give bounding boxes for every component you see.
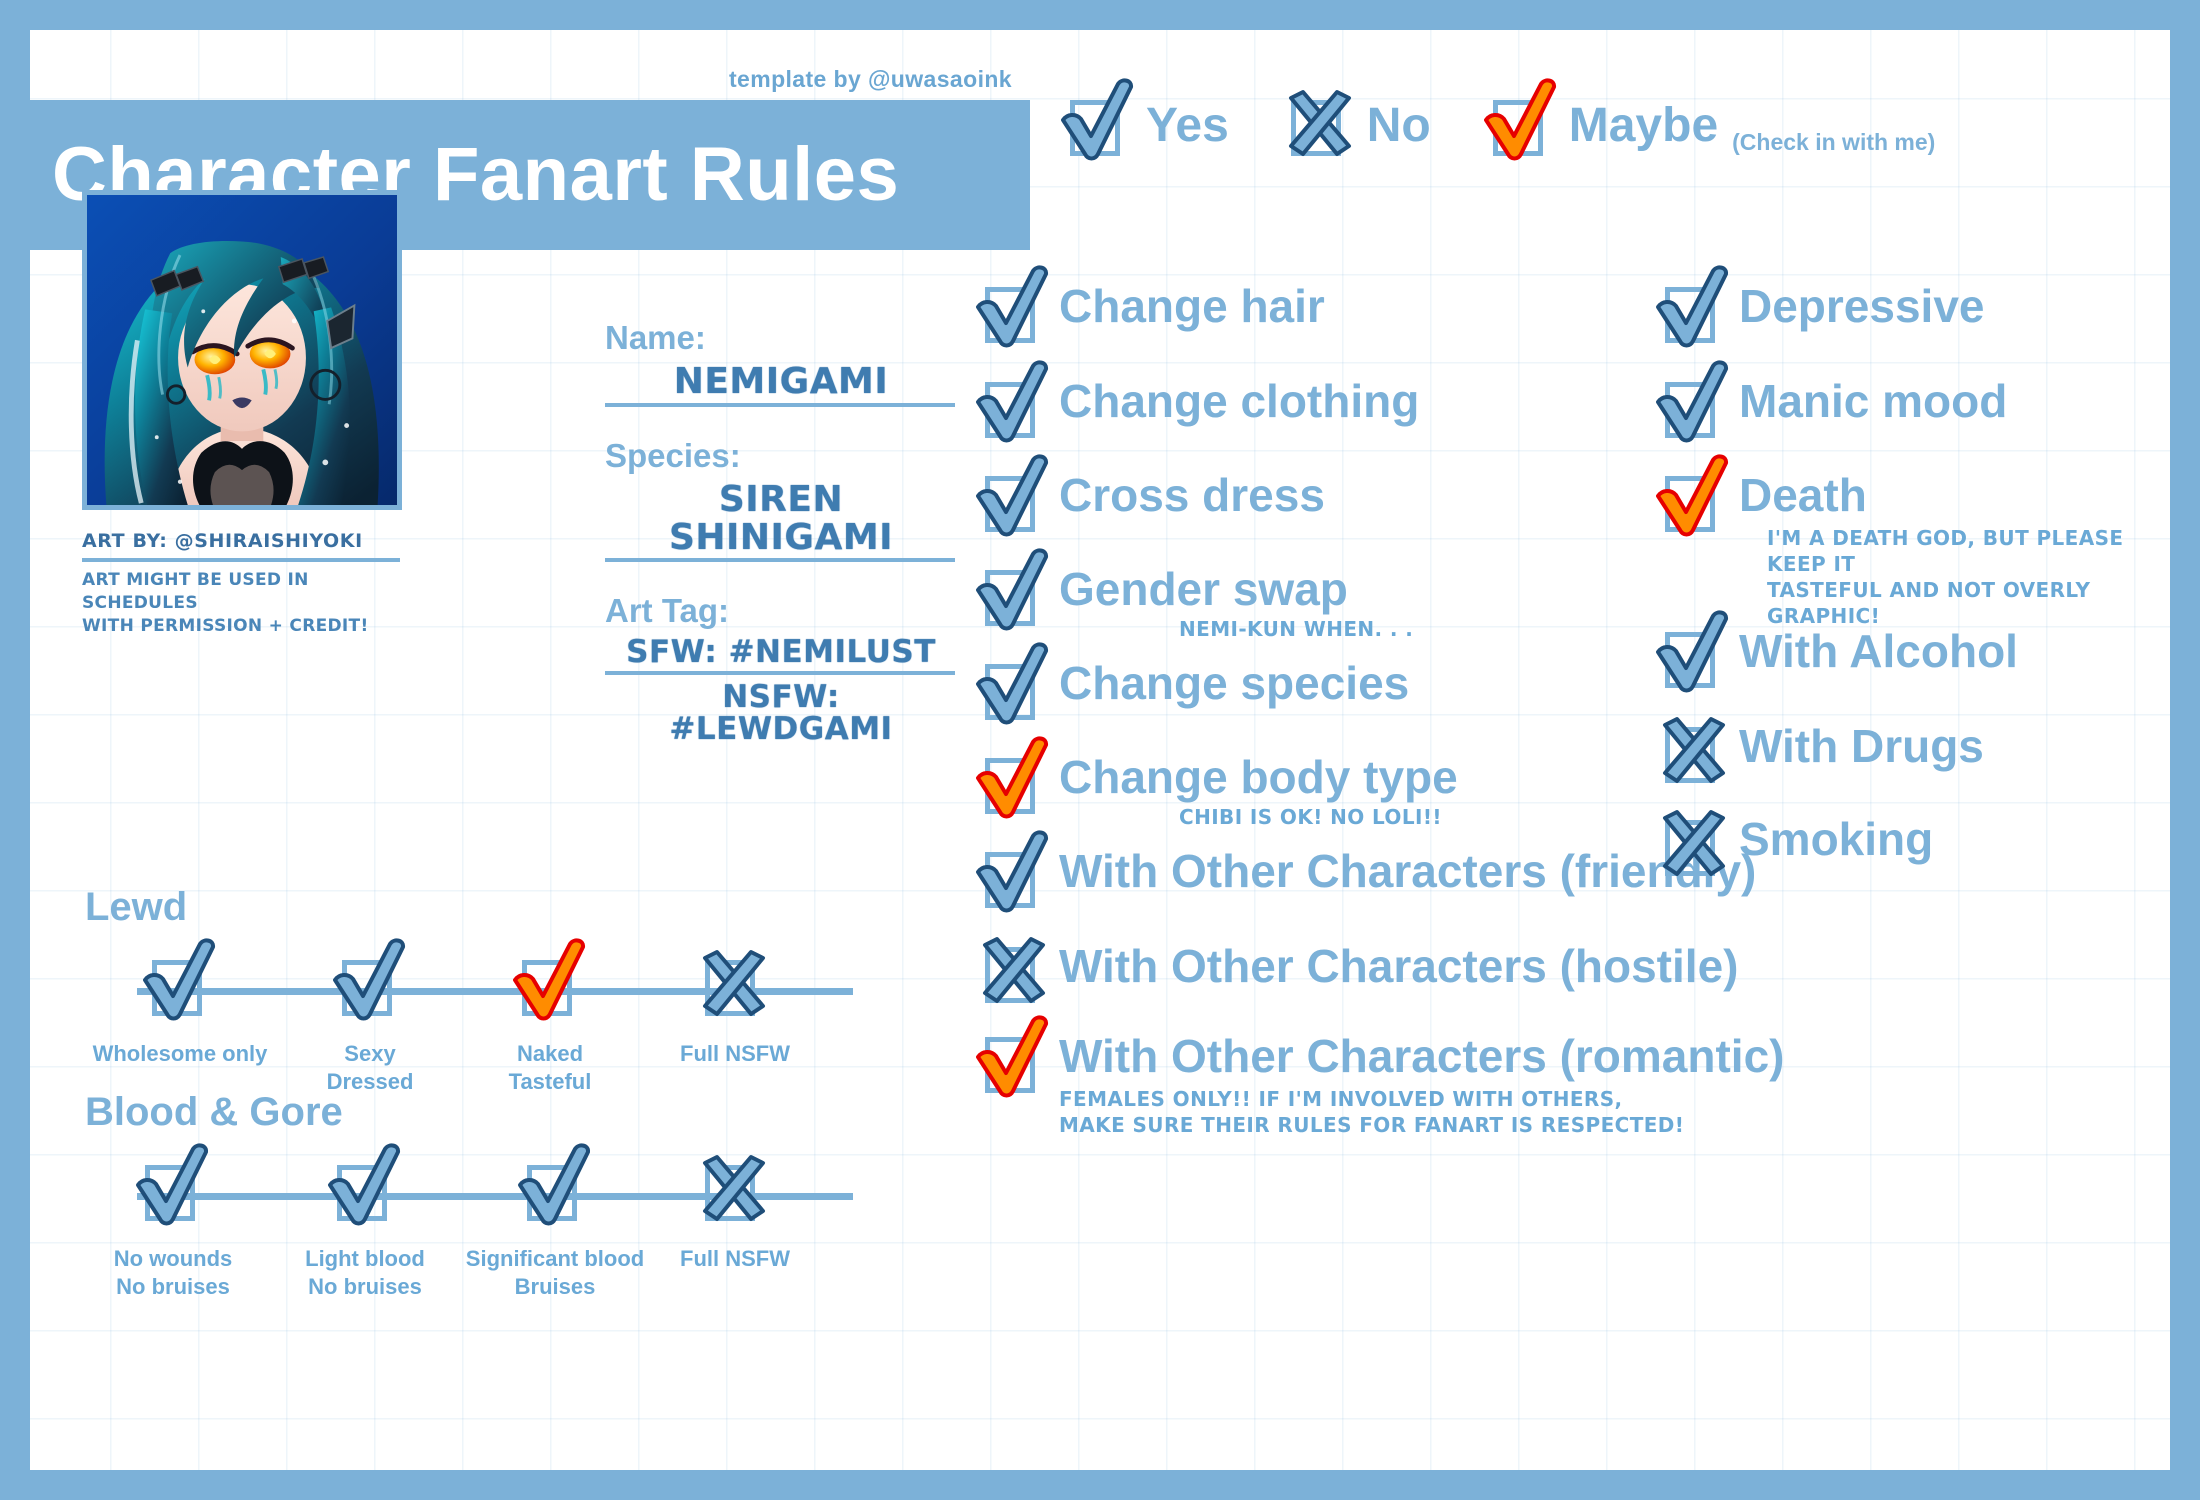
check-blue-icon [1060, 88, 1136, 164]
check-blue-icon[interactable] [1655, 275, 1731, 351]
checklist-item-other-characters-romantic[interactable]: With Other Characters (romantic) FEMALES… [975, 1025, 1785, 1138]
scale-lewd-node-2[interactable] [512, 948, 588, 1024]
check-blue-icon[interactable] [1655, 370, 1731, 446]
art-usage-note-line1: ART MIGHT BE USED IN SCHEDULES [82, 569, 412, 615]
scale-blood-gore-track [85, 1141, 905, 1245]
scale-lewd-label-0-line1: Wholesome only [93, 1040, 268, 1068]
art-credit-block: ART BY: @SHIRAISHIYOKI ART MIGHT BE USED… [82, 530, 412, 638]
scale-lewd-label-2-line1: Naked [509, 1040, 592, 1068]
legend-label-yes: Yes [1146, 102, 1229, 150]
scale-blood-gore-title: Blood & Gore [85, 1090, 905, 1135]
checklist-label: Death [1739, 469, 1867, 521]
checklist-item-change-species[interactable]: Change species [975, 652, 1409, 728]
legend-item-yes: Yes [1060, 88, 1229, 164]
scale-blood-gore-labels: No wounds No bruises Light blood No brui… [85, 1245, 905, 1307]
checklist-note: I'M A DEATH GOD, BUT PLEASE KEEP IT TAST… [1739, 525, 2155, 629]
scale-lewd-label-3: Full NSFW [680, 1040, 790, 1068]
checklist-item-smoking[interactable]: Smoking [1655, 808, 1933, 884]
checklist-label: Depressive [1739, 280, 1985, 332]
scale-lewd-node-0[interactable] [142, 948, 218, 1024]
checklist-label: Cross dress [1059, 469, 1325, 521]
avatar [82, 190, 402, 510]
legend-item-no: No [1281, 88, 1431, 164]
scale-lewd-label-3-line1: Full NSFW [680, 1040, 790, 1068]
checklist-label: With Drugs [1739, 720, 1984, 772]
legend-label-maybe: Maybe [1569, 102, 1718, 150]
check-blue-icon[interactable] [975, 558, 1051, 634]
cross-blue-icon [1281, 88, 1357, 164]
checklist-note: CHIBI IS OK! NO LOLI!! [1059, 804, 1458, 830]
scale-blood-gore-label-2: Significant blood Bruises [466, 1245, 644, 1301]
template-credit: template by @uwasaoink [30, 66, 1030, 93]
checklist-note: NEMI-KUN WHEN. . . [1059, 616, 1413, 642]
scale-blood-gore-label-2-line2: Bruises [466, 1273, 644, 1301]
species-label: Species: [605, 437, 955, 475]
cross-blue-icon[interactable] [1655, 808, 1731, 884]
character-portrait-illustration [87, 195, 397, 505]
art-usage-note-line2: WITH PERMISSION + CREDIT! [82, 615, 412, 638]
checklist-item-death[interactable]: Death I'M A DEATH GOD, BUT PLEASE KEEP I… [1655, 464, 2155, 629]
scale-blood-gore-node-3[interactable] [695, 1153, 771, 1229]
scale-lewd: Lewd Wholesome only Sexy Dressed Naked T… [85, 885, 905, 1102]
checklist-label: Smoking [1739, 813, 1933, 865]
legend: Yes No Maybe (Check in with me) [1060, 88, 1935, 164]
checklist-label: Change body type [1059, 751, 1458, 803]
fanart-rules-sheet: template by @uwasaoink Character Fanart … [30, 30, 2170, 1470]
art-credit-rule [82, 558, 400, 562]
legend-sublabel-maybe: (Check in with me) [1732, 129, 1935, 164]
scale-lewd-label-1: Sexy Dressed [327, 1040, 414, 1096]
scale-lewd-title: Lewd [85, 885, 905, 930]
check-orange-icon[interactable] [975, 1025, 1051, 1101]
check-blue-icon[interactable] [975, 370, 1051, 446]
scale-lewd-node-3[interactable] [695, 948, 771, 1024]
scale-blood-gore-label-3: Full NSFW [680, 1245, 790, 1273]
scale-blood-gore-label-2-line1: Significant blood [466, 1245, 644, 1273]
checklist-label: Change clothing [1059, 375, 1419, 427]
checklist-label: With Other Characters (friendly) [1059, 845, 1756, 897]
check-blue-icon[interactable] [975, 275, 1051, 351]
scale-lewd-label-0: Wholesome only [93, 1040, 268, 1068]
scale-blood-gore-label-1-line2: No bruises [305, 1273, 425, 1301]
checklist-item-change-clothing[interactable]: Change clothing [975, 370, 1419, 446]
checklist-item-manic-mood[interactable]: Manic mood [1655, 370, 2007, 446]
scale-lewd-track [85, 936, 905, 1040]
scale-blood-gore-label-0-line2: No bruises [114, 1273, 233, 1301]
check-orange-icon[interactable] [1655, 464, 1731, 540]
checklist-label: Gender swap [1059, 563, 1348, 615]
checklist-label: With Other Characters (romantic) [1059, 1030, 1785, 1082]
scale-lewd-node-1[interactable] [332, 948, 408, 1024]
check-blue-icon[interactable] [975, 840, 1051, 916]
scale-lewd-label-1-line1: Sexy [327, 1040, 414, 1068]
checklist-item-change-body-type[interactable]: Change body type CHIBI IS OK! NO LOLI!! [975, 746, 1458, 830]
check-orange-icon[interactable] [975, 746, 1051, 822]
art-usage-note: ART MIGHT BE USED IN SCHEDULES WITH PERM… [82, 569, 412, 638]
check-orange-icon [1483, 88, 1559, 164]
cross-blue-icon[interactable] [975, 935, 1051, 1011]
checklist-item-with-alcohol[interactable]: With Alcohol [1655, 620, 2018, 696]
checklist-item-gender-swap[interactable]: Gender swap NEMI-KUN WHEN. . . [975, 558, 1413, 642]
checklist-item-depressive[interactable]: Depressive [1655, 275, 1985, 351]
scale-blood-gore-label-0-line1: No wounds [114, 1245, 233, 1273]
legend-label-no: No [1367, 102, 1431, 150]
scale-blood-gore-node-2[interactable] [517, 1153, 593, 1229]
arttag-sfw-value: SFW: #NEMILUST [605, 630, 955, 671]
checklist-note: FEMALES ONLY!! IF I'M INVOLVED WITH OTHE… [1059, 1086, 1785, 1138]
checklist-item-with-drugs[interactable]: With Drugs [1655, 715, 1984, 791]
scale-blood-gore-node-1[interactable] [327, 1153, 403, 1229]
check-blue-icon[interactable] [975, 464, 1051, 540]
checklist-label: With Other Characters (hostile) [1059, 940, 1738, 992]
scale-blood-gore-label-0: No wounds No bruises [114, 1245, 233, 1301]
checklist-label: With Alcohol [1739, 625, 2018, 677]
art-credit-text: ART BY: @SHIRAISHIYOKI [82, 530, 412, 552]
name-value: NEMIGAMI [605, 357, 955, 403]
check-blue-icon[interactable] [975, 652, 1051, 728]
cross-blue-icon[interactable] [1655, 715, 1731, 791]
checklist-label: Manic mood [1739, 375, 2007, 427]
scale-lewd-label-2: Naked Tasteful [509, 1040, 592, 1096]
checklist-label: Change species [1059, 657, 1409, 709]
legend-item-maybe: Maybe (Check in with me) [1483, 88, 1936, 164]
scale-blood-gore-label-3-line1: Full NSFW [680, 1245, 790, 1273]
profile-fields: Name: NEMIGAMI Species: SIREN SHINIGAMI … [605, 315, 955, 748]
arttag-nsfw-value: NSFW: #LEWDGAMI [605, 675, 955, 748]
scale-blood-gore-label-1-line1: Light blood [305, 1245, 425, 1273]
checklist-label: Change hair [1059, 280, 1325, 332]
arttag-label: Art Tag: [605, 592, 955, 630]
check-blue-icon[interactable] [1655, 620, 1731, 696]
checklist-item-cross-dress[interactable]: Cross dress [975, 464, 1325, 540]
scale-blood-gore: Blood & Gore No wounds No bruises Light … [85, 1090, 905, 1307]
name-label: Name: [605, 319, 955, 357]
checklist-item-other-characters-friendly[interactable]: With Other Characters (friendly) [975, 840, 1756, 916]
scale-blood-gore-label-1: Light blood No bruises [305, 1245, 425, 1301]
species-value: SIREN SHINIGAMI [605, 475, 955, 559]
scale-blood-gore-node-0[interactable] [135, 1153, 211, 1229]
checklist-item-other-characters-hostile[interactable]: With Other Characters (hostile) [975, 935, 1738, 1011]
checklist-item-change-hair[interactable]: Change hair [975, 275, 1325, 351]
